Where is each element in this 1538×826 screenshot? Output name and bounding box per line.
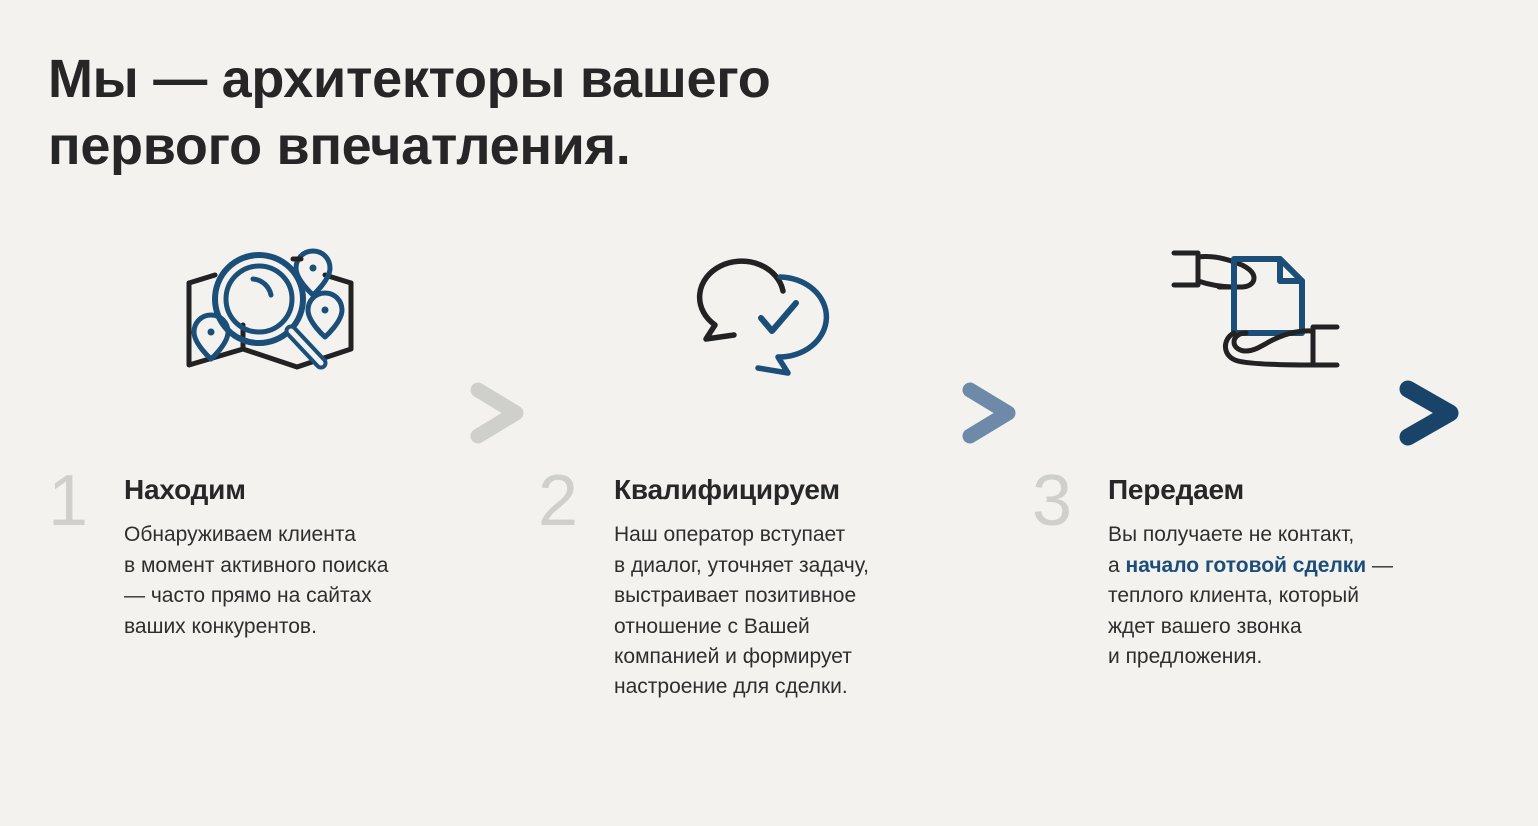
- page-title: Мы — архитекторы вашего первого впечатле…: [48, 46, 948, 180]
- step-1: 1 Находим Обнаруживаем клиента в момент …: [48, 470, 478, 642]
- highlighted-phrase: начало готовой сделки: [1126, 554, 1367, 577]
- steps-row: 1 Находим Обнаруживаем клиента в момент …: [0, 470, 1538, 770]
- step-text: Вы получаете не контакт, а начало готово…: [1108, 520, 1482, 672]
- step-title: Квалифицируем: [614, 474, 968, 506]
- handover-document-icon: [1140, 236, 1370, 386]
- step-number: 2: [538, 472, 614, 531]
- step-2: 2 Квалифицируем Наш оператор вступает в …: [538, 470, 968, 703]
- chat-bubbles-check-icon: [645, 236, 875, 386]
- step-text: Наш оператор вступает в диалог, уточняет…: [614, 520, 968, 703]
- step-title: Находим: [124, 474, 478, 506]
- step-number: 1: [48, 472, 124, 531]
- icons-row: [0, 236, 1538, 386]
- step-title: Передаем: [1108, 474, 1482, 506]
- step-text: Обнаруживаем клиента в момент активного …: [124, 520, 478, 642]
- map-search-icon: [155, 236, 385, 386]
- step-number: 3: [1032, 472, 1108, 531]
- step-3: 3 Передаем Вы получаете не контакт, а на…: [1032, 470, 1482, 672]
- process-arrow: [0, 378, 1538, 450]
- infographic-canvas: Мы — архитекторы вашего первого впечатле…: [0, 0, 1538, 826]
